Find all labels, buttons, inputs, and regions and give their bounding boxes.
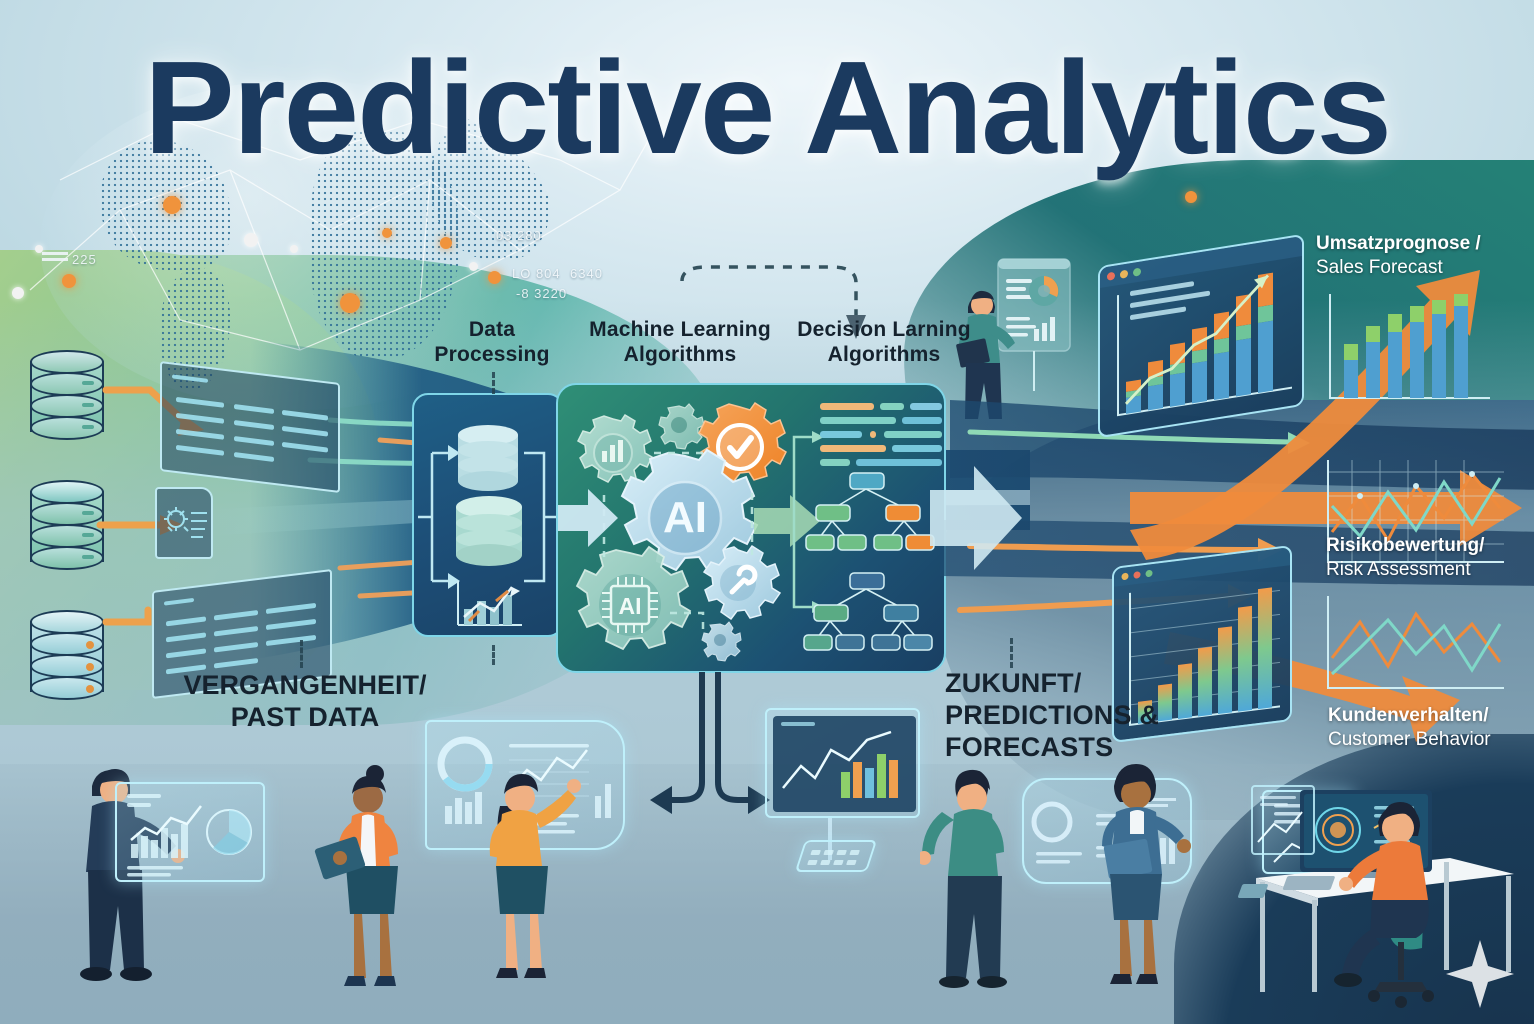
hologram-dashboard-1[interactable] [115, 782, 265, 882]
person-touching-hologram [470, 760, 590, 990]
machine-learning-line1: Machine Learning [589, 318, 771, 341]
globe-readout-0: 225 [72, 252, 97, 267]
ai-chip-label: AI [619, 593, 642, 619]
flow-label-past-data: VERGANGENHEIT/ PAST DATA [160, 670, 450, 734]
network-node-white-1 [244, 233, 258, 247]
hologram-monitor-display[interactable] [765, 708, 920, 818]
network-node-orange-1 [163, 196, 181, 214]
decision-tree-nodes-2 [804, 573, 932, 650]
data-processing-line2: Processing [434, 343, 549, 366]
sales-forecast-en: Sales Forecast [1316, 256, 1481, 280]
past-data-line1: VERGANGENHEIT/ [183, 670, 426, 700]
network-node-orange-3 [440, 237, 452, 249]
decision-learning-line1: Decision Larning [797, 318, 971, 341]
infographic-canvas: 225 03 280 LO 804 6340 -8 3220 [0, 0, 1534, 1024]
network-node-orange-4 [382, 228, 392, 238]
network-node-orange-7 [1185, 191, 1197, 203]
network-node-white-3 [290, 245, 298, 253]
globe-readout-1: 03 280 [496, 228, 542, 243]
split-arrow-below-core [640, 672, 780, 822]
data-processing-dashed-line-lower [492, 645, 495, 665]
sales-forecast-chart-panel[interactable] [1098, 234, 1304, 439]
network-node-orange-5 [62, 274, 76, 288]
input-arrow-icon [558, 489, 618, 547]
page-title: Predictive Analytics [0, 42, 1534, 174]
machine-learning-line2: Algorithms [624, 343, 737, 366]
data-processing-box[interactable] [412, 393, 564, 637]
decision-tree-nodes-1 [806, 473, 934, 550]
outcome-label-sales-forecast: Umsatzprognose / Sales Forecast [1316, 232, 1481, 280]
data-processing-dashed-line [492, 372, 495, 394]
person-with-tablet [312, 758, 432, 998]
customer-behavior-de: Kundenverhalten/ [1328, 705, 1488, 726]
past-data-dashed-line [300, 640, 303, 668]
person-presenting-data [1078, 750, 1198, 1000]
data-processing-line1: Data [469, 318, 515, 341]
tiny-gear-icon [702, 622, 741, 661]
person-at-monitor [920, 752, 1040, 1000]
sales-forecast-de: Umsatzprognose / [1316, 233, 1481, 254]
code-lines-graphic [820, 403, 942, 466]
stage-label-data-processing: Data Processing [418, 318, 566, 368]
sales-forecast-mini-chart[interactable] [1318, 288, 1498, 416]
small-gear-icon [659, 404, 704, 449]
stage-label-machine-learning: Machine Learning Algorithms [580, 318, 780, 368]
past-data-line2: PAST DATA [231, 702, 380, 732]
risk-assessment-en: Risk Assessment [1326, 558, 1484, 582]
risk-assessment-de: Risikobewertung/ [1326, 535, 1484, 556]
ai-gear-label: AI [663, 493, 707, 542]
customer-behavior-en: Customer Behavior [1328, 728, 1491, 752]
data-file-card [155, 487, 213, 559]
person-at-desk-workstation [1238, 770, 1528, 1024]
customer-behavior-mini-chart[interactable] [1318, 590, 1514, 700]
hologram-keyboard[interactable] [795, 840, 877, 872]
ai-algorithms-box[interactable]: AI AI [556, 383, 946, 673]
readout-dash-marks [42, 252, 68, 262]
stage-label-decision-learning: Decision Larning Algorithms [790, 318, 978, 368]
outcome-label-customer-behavior: Kundenverhalten/ Customer Behavior [1328, 704, 1491, 752]
bar-chart-gear-icon [578, 415, 652, 482]
future-line2: PREDICTIONS & [945, 700, 1159, 730]
network-node-white-2 [12, 287, 24, 299]
data-table-card-1 [160, 361, 340, 493]
future-line1: ZUKUNFT/ [945, 668, 1082, 698]
outcome-label-risk-assessment: Risikobewertung/ Risk Assessment [1326, 534, 1484, 582]
decision-learning-line2: Algorithms [828, 343, 941, 366]
